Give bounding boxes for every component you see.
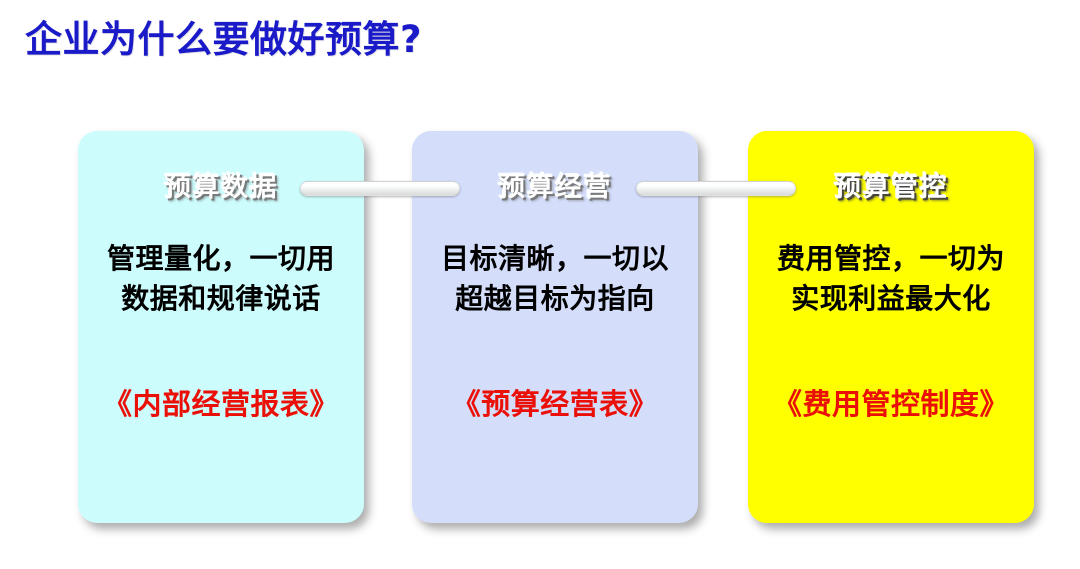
cards-row: 预算数据 管理量化，一切用 数据和规律说话 《内部经营报表》 预算经营 目标清晰… — [0, 0, 1080, 569]
card-body-line-1: 目标清晰，一切以 — [426, 239, 684, 279]
card-note: 《费用管控制度》 — [756, 381, 1026, 423]
card-body-line-1: 管理量化，一切用 — [92, 239, 350, 279]
card-note: 《预算经营表》 — [420, 381, 690, 423]
card-body-line-2: 数据和规律说话 — [92, 279, 350, 319]
card-body: 目标清晰，一切以 超越目标为指向 — [426, 239, 684, 319]
card-body-line-1: 费用管控，一切为 — [762, 239, 1020, 279]
card-body: 费用管控，一切为 实现利益最大化 — [762, 239, 1020, 319]
card-body-line-2: 超越目标为指向 — [426, 279, 684, 319]
connector-bar-icon — [636, 181, 796, 196]
card-body-line-2: 实现利益最大化 — [762, 279, 1020, 319]
connector-bar-icon — [300, 181, 460, 196]
card-note: 《内部经营报表》 — [86, 381, 356, 423]
card-body: 管理量化，一切用 数据和规律说话 — [92, 239, 350, 319]
